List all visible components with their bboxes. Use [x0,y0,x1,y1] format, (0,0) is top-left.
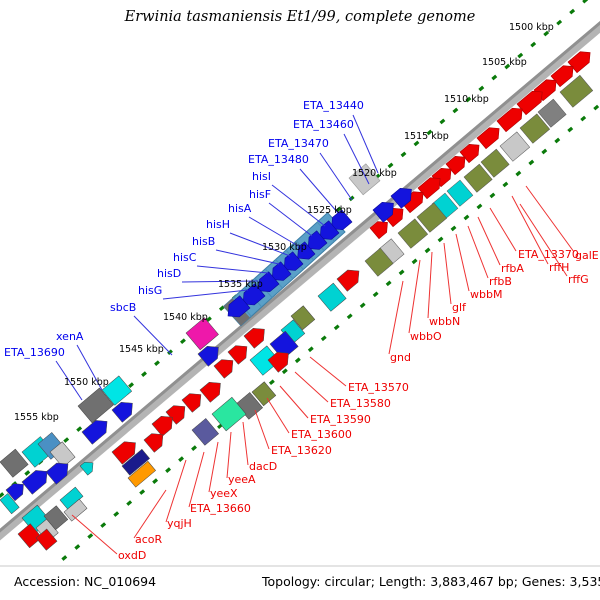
gene-label[interactable]: gnd [390,351,411,364]
gene-label[interactable]: ETA_13660 [190,502,251,515]
gene-label[interactable]: rfbB [489,275,512,288]
gene-label[interactable]: ETA_13690 [4,346,65,359]
gene-label[interactable]: glf [452,301,467,314]
gene-label[interactable]: ETA_13620 [271,444,332,457]
gene-label[interactable]: ETA_13460 [293,118,354,131]
axis-tick-label: 1505 kbp [482,57,527,68]
axis-tick-label: 1525 kbp [307,205,352,216]
gene-label[interactable]: rfbA [501,262,524,275]
gene-label[interactable]: hisB [192,235,215,248]
gene-label[interactable]: yeeA [228,473,256,486]
genome-stats-text: Topology: circular; Length: 3,883,467 bp… [261,574,600,589]
gene-label[interactable]: yqjH [167,517,192,530]
gene-label[interactable]: hisA [228,202,252,215]
gene-label[interactable]: ETA_13580 [330,397,391,410]
gene-label[interactable]: dacD [249,460,277,473]
gene-label[interactable]: wbbO [410,330,442,343]
axis-tick-label: 1550 kbp [64,377,109,388]
gene-label[interactable]: oxdD [118,549,146,562]
gene-label[interactable]: ETA_13600 [291,428,352,441]
canvas-background [0,0,600,600]
axis-tick-label: 1510 kbp [444,94,489,105]
gene-label[interactable]: hisH [206,218,230,231]
axis-tick-label: 1540 kbp [163,312,208,323]
gene-label[interactable]: sbcB [110,301,136,314]
gene-label[interactable]: hisC [173,251,197,264]
axis-tick-label: 1515 kbp [404,131,449,142]
gene-label[interactable]: ETA_13470 [268,137,329,150]
gene-label[interactable]: ETA_13480 [248,153,309,166]
gene-label[interactable]: hisD [157,267,181,280]
axis-tick-label: 1545 kbp [119,344,164,355]
gene-label[interactable]: wbbN [429,315,460,328]
gene-label[interactable]: rffG [568,273,589,286]
axis-tick-label: 1535 kbp [218,279,263,290]
gene-label[interactable]: ETA_13570 [348,381,409,394]
genome-map-canvas: Erwinia tasmaniensis Et1/99, complete ge… [0,0,600,600]
axis-tick-label: 1500 kbp [509,22,554,33]
gene-label[interactable]: acoR [135,533,163,546]
gene-label[interactable]: wbbM [470,288,502,301]
gene-label[interactable]: xenA [56,330,84,343]
accession-text: Accession: NC_010694 [14,574,156,589]
gene-label[interactable]: hisI [252,170,271,183]
gene-label[interactable]: ETA_13370 [518,248,579,261]
page-title: Erwinia tasmaniensis Et1/99, complete ge… [124,9,476,25]
gene-label[interactable]: yeeX [210,487,238,500]
gene-label[interactable]: hisF [249,188,271,201]
axis-tick-label: 1520 kbp [352,168,397,179]
gene-label[interactable]: ETA_13440 [303,99,364,112]
axis-tick-label: 1530 kbp [262,242,307,253]
gene-label[interactable]: rffH [549,261,569,274]
gene-label[interactable]: ETA_13590 [310,413,371,426]
gene-label[interactable]: hisG [138,284,162,297]
axis-tick-label: 1555 kbp [14,412,59,423]
